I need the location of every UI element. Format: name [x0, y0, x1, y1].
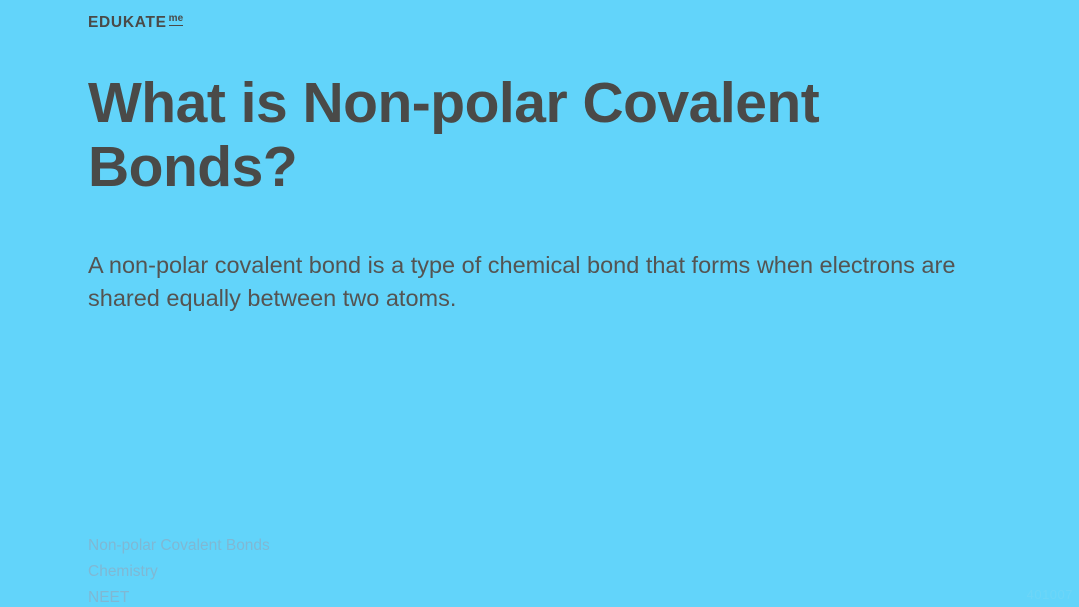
footer-topic: Non-polar Covalent Bonds: [88, 533, 270, 559]
slide-body-text: A non-polar covalent bond is a type of c…: [88, 249, 978, 315]
slide-title: What is Non-polar Covalent Bonds?: [88, 72, 988, 200]
brand-logo-word: EDUKATE: [88, 15, 167, 31]
watermark-id: 401007: [1027, 587, 1073, 602]
brand-logo-superscript: me: [169, 14, 183, 26]
slide-footer: Non-polar Covalent Bonds Chemistry NEET: [88, 533, 270, 607]
footer-exam: NEET: [88, 585, 270, 607]
footer-subject: Chemistry: [88, 559, 270, 585]
brand-logo: EDUKATE me: [88, 15, 183, 31]
slide-canvas: EDUKATE me What is Non-polar Covalent Bo…: [0, 0, 1079, 607]
